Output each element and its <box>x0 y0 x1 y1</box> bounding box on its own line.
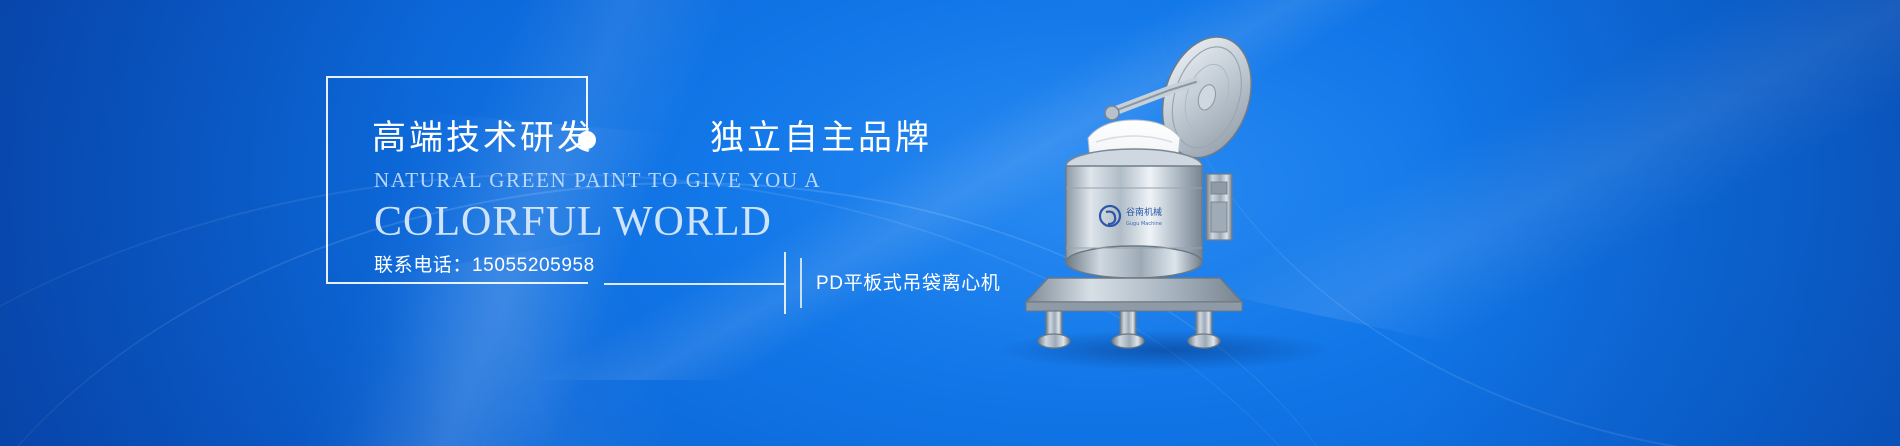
centrifuge-machine-image: 谷南机械 Gugu Machine <box>1020 16 1300 356</box>
leader-tick-secondary-icon <box>800 258 802 308</box>
svg-text:Gugu Machine: Gugu Machine <box>1126 221 1162 227</box>
leader-tick-icon <box>784 252 786 314</box>
leader-line-icon <box>604 283 784 285</box>
svg-text:谷南机械: 谷南机械 <box>1126 206 1162 218</box>
hero-banner: 高端技术研发 独立自主品牌 NATURAL GREEN PAINT TO GIV… <box>0 0 1900 446</box>
edge-vignette <box>0 0 1900 446</box>
headline: 高端技术研发 独立自主品牌 <box>372 116 932 160</box>
english-main-title: COLORFUL WORLD <box>374 198 772 246</box>
headline-left-text: 高端技术研发 <box>372 116 594 160</box>
product-caption: PD平板式吊袋离心机 <box>816 268 1000 295</box>
headline-right-text: 独立自主品牌 <box>710 116 932 160</box>
english-subtitle: NATURAL GREEN PAINT TO GIVE YOU A <box>374 168 821 193</box>
contact-phone: 联系电话：15055205958 <box>374 250 595 277</box>
